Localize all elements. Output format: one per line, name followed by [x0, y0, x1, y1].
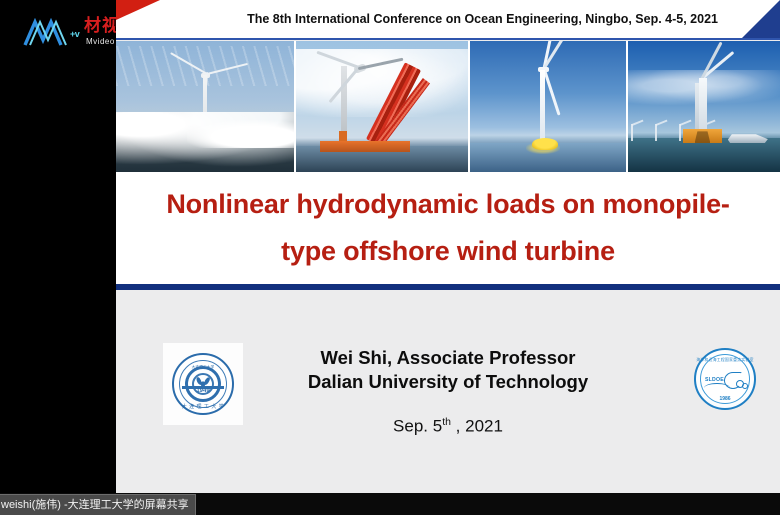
presentation-slide: The 8th International Conference on Ocea…: [116, 0, 780, 493]
author-block: Wei Shi, Associate Professor Dalian Univ…: [116, 346, 780, 437]
watermark-cn-label: 材视: [84, 17, 120, 35]
sldoe-laboratory-seal: 海岸和近海工程国家重点实验室 SLDOE 1986: [694, 348, 758, 412]
slide-body: 大连理工大学 1949 大 连 理 工 大 学 Wei Shi, Associa…: [116, 290, 780, 493]
watermark-plus-label: +v: [70, 29, 79, 39]
screen-share-status-label: weishi(施伟) -大连理工大学的屏幕共享: [0, 494, 196, 515]
seal-dot: [742, 383, 748, 389]
date-prefix: Sep. 5: [393, 417, 442, 436]
sldoe-seal-arc-text: 海岸和近海工程国家重点实验室: [696, 358, 754, 363]
mvideo-watermark: +v 材视 Mvideo: [22, 12, 130, 54]
photo-barge-mounted-turbine-port-cranes: [626, 41, 780, 172]
author-name-title: Wei Shi, Associate Professor: [116, 346, 780, 370]
date-suffix: , 2021: [451, 417, 503, 436]
installation-barge: [320, 141, 409, 153]
port-cranes: [631, 124, 677, 141]
title-line-2: type offshore wind turbine: [281, 228, 615, 275]
title-line-1: Nonlinear hydrodynamic loads on monopile…: [166, 181, 729, 228]
wave-foam: [187, 120, 294, 149]
turbine-tower: [540, 70, 545, 146]
tower-band: [339, 131, 347, 140]
header-divider: [116, 38, 780, 40]
watermark-en-label: Mvideo: [86, 37, 115, 46]
photo-crane-vessel-turbine-installation: [294, 41, 468, 172]
floating-platform: [683, 129, 723, 143]
yellow-transition-piece: [532, 138, 558, 150]
photo-offshore-wind-turbine-rough-sea: [116, 41, 294, 172]
slide-title: Nonlinear hydrodynamic loads on monopile…: [116, 172, 780, 284]
support-vessel: [728, 134, 768, 143]
author-affiliation: Dalian University of Technology: [116, 370, 780, 394]
conference-title: The 8th International Conference on Ocea…: [247, 12, 718, 26]
screen-share-view: +v 材视 Mvideo The 8th International Confe…: [0, 0, 780, 515]
turbine-tower: [699, 78, 707, 130]
red-triangle-decoration-icon: [116, 0, 160, 40]
blue-triangle-decoration-icon: [740, 0, 780, 40]
seal-wave-line: [704, 383, 730, 388]
blade: [543, 67, 561, 115]
date-ordinal-suffix: th: [442, 416, 451, 428]
photo-strip: [116, 41, 780, 172]
slide-header: The 8th International Conference on Ocea…: [116, 0, 780, 40]
presentation-date: Sep. 5th , 2021: [116, 416, 780, 437]
sldoe-seal-year: 1986: [696, 396, 754, 402]
photo-monopile-turbine-yellow-transition-piece: [468, 41, 626, 172]
